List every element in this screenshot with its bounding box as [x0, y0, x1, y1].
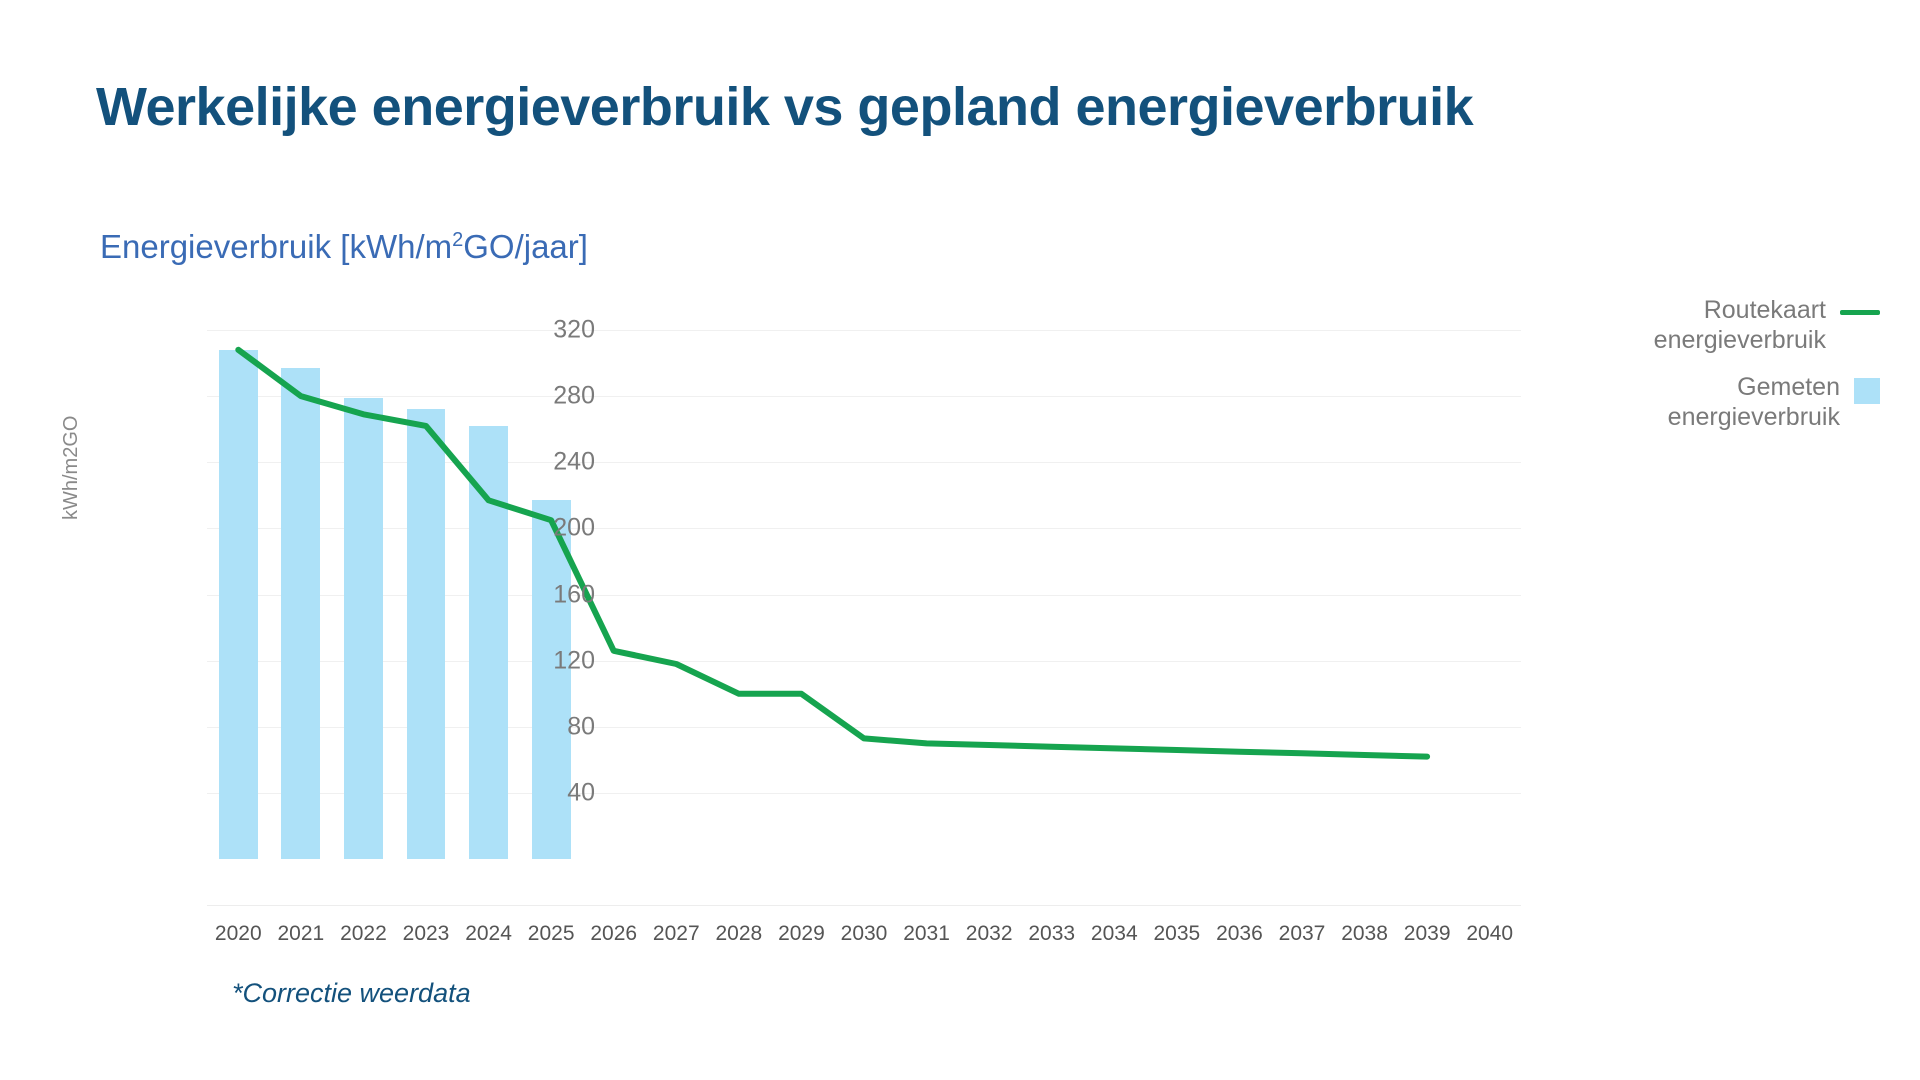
- subtitle-suffix: GO/jaar]: [463, 228, 588, 265]
- y-axis-title: kWh/m2GO: [60, 416, 83, 520]
- x-axis-tick-label: 2023: [403, 922, 450, 946]
- x-axis-tick-label: 2024: [465, 922, 512, 946]
- y-axis-tick-label: 320: [553, 316, 595, 345]
- x-axis-tick-label: 2021: [277, 922, 324, 946]
- legend-box-swatch: [1854, 378, 1880, 404]
- x-axis-tick-label: 2036: [1216, 922, 1263, 946]
- x-axis-tick-label: 2025: [528, 922, 575, 946]
- legend-item-label: Routekaart energieverbruik: [1616, 296, 1826, 355]
- x-axis-tick-label: 2039: [1404, 922, 1451, 946]
- y-axis-tick-label: 160: [553, 580, 595, 609]
- y-axis-tick-label: 280: [553, 382, 595, 411]
- x-axis-baseline: [207, 905, 1521, 906]
- x-axis-tick-label: 2026: [590, 922, 637, 946]
- y-axis-tick-label: 240: [553, 448, 595, 477]
- chart-plot-frame: [207, 330, 1521, 905]
- y-axis-tick-label: 40: [567, 779, 595, 808]
- subtitle-prefix: Energieverbruik [kWh/m: [100, 228, 452, 265]
- page-title: Werkelijke energieverbruik vs gepland en…: [96, 76, 1473, 138]
- legend-item-label: Gemeten energieverbruik: [1630, 373, 1840, 432]
- x-axis-tick-label: 2032: [966, 922, 1013, 946]
- x-axis-tick-label: 2037: [1279, 922, 1326, 946]
- x-axis-tick-label: 2029: [778, 922, 825, 946]
- y-axis-tick-label: 120: [553, 646, 595, 675]
- legend-item-2[interactable]: Gemeten energieverbruik: [1580, 373, 1880, 432]
- x-axis-tick-label: 2040: [1466, 922, 1513, 946]
- x-axis-tick-label: 2031: [903, 922, 950, 946]
- x-axis-tick-label: 2034: [1091, 922, 1138, 946]
- legend-item-1[interactable]: Routekaart energieverbruik: [1580, 296, 1880, 355]
- line-series-svg: [207, 330, 1521, 905]
- subtitle-superscript: 2: [452, 229, 463, 251]
- x-axis-tick-label: 2038: [1341, 922, 1388, 946]
- y-axis-tick-label: 80: [567, 712, 595, 741]
- chart-legend: Routekaart energieverbruikGemeten energi…: [1580, 296, 1880, 450]
- x-axis-tick-label: 2020: [215, 922, 262, 946]
- x-axis-tick-label: 2028: [715, 922, 762, 946]
- legend-line-swatch: [1840, 310, 1880, 315]
- x-axis-tick-label: 2035: [1153, 922, 1200, 946]
- footnote: *Correctie weerdata: [232, 978, 471, 1009]
- y-axis-tick-label: 200: [553, 514, 595, 543]
- chart-subtitle: Energieverbruik [kWh/m2GO/jaar]: [100, 228, 588, 266]
- x-axis-tick-label: 2030: [841, 922, 888, 946]
- x-axis-tick-label: 2027: [653, 922, 700, 946]
- routekaart-line: [238, 350, 1427, 757]
- x-axis-tick-label: 2022: [340, 922, 387, 946]
- x-axis-tick-label: 2033: [1028, 922, 1075, 946]
